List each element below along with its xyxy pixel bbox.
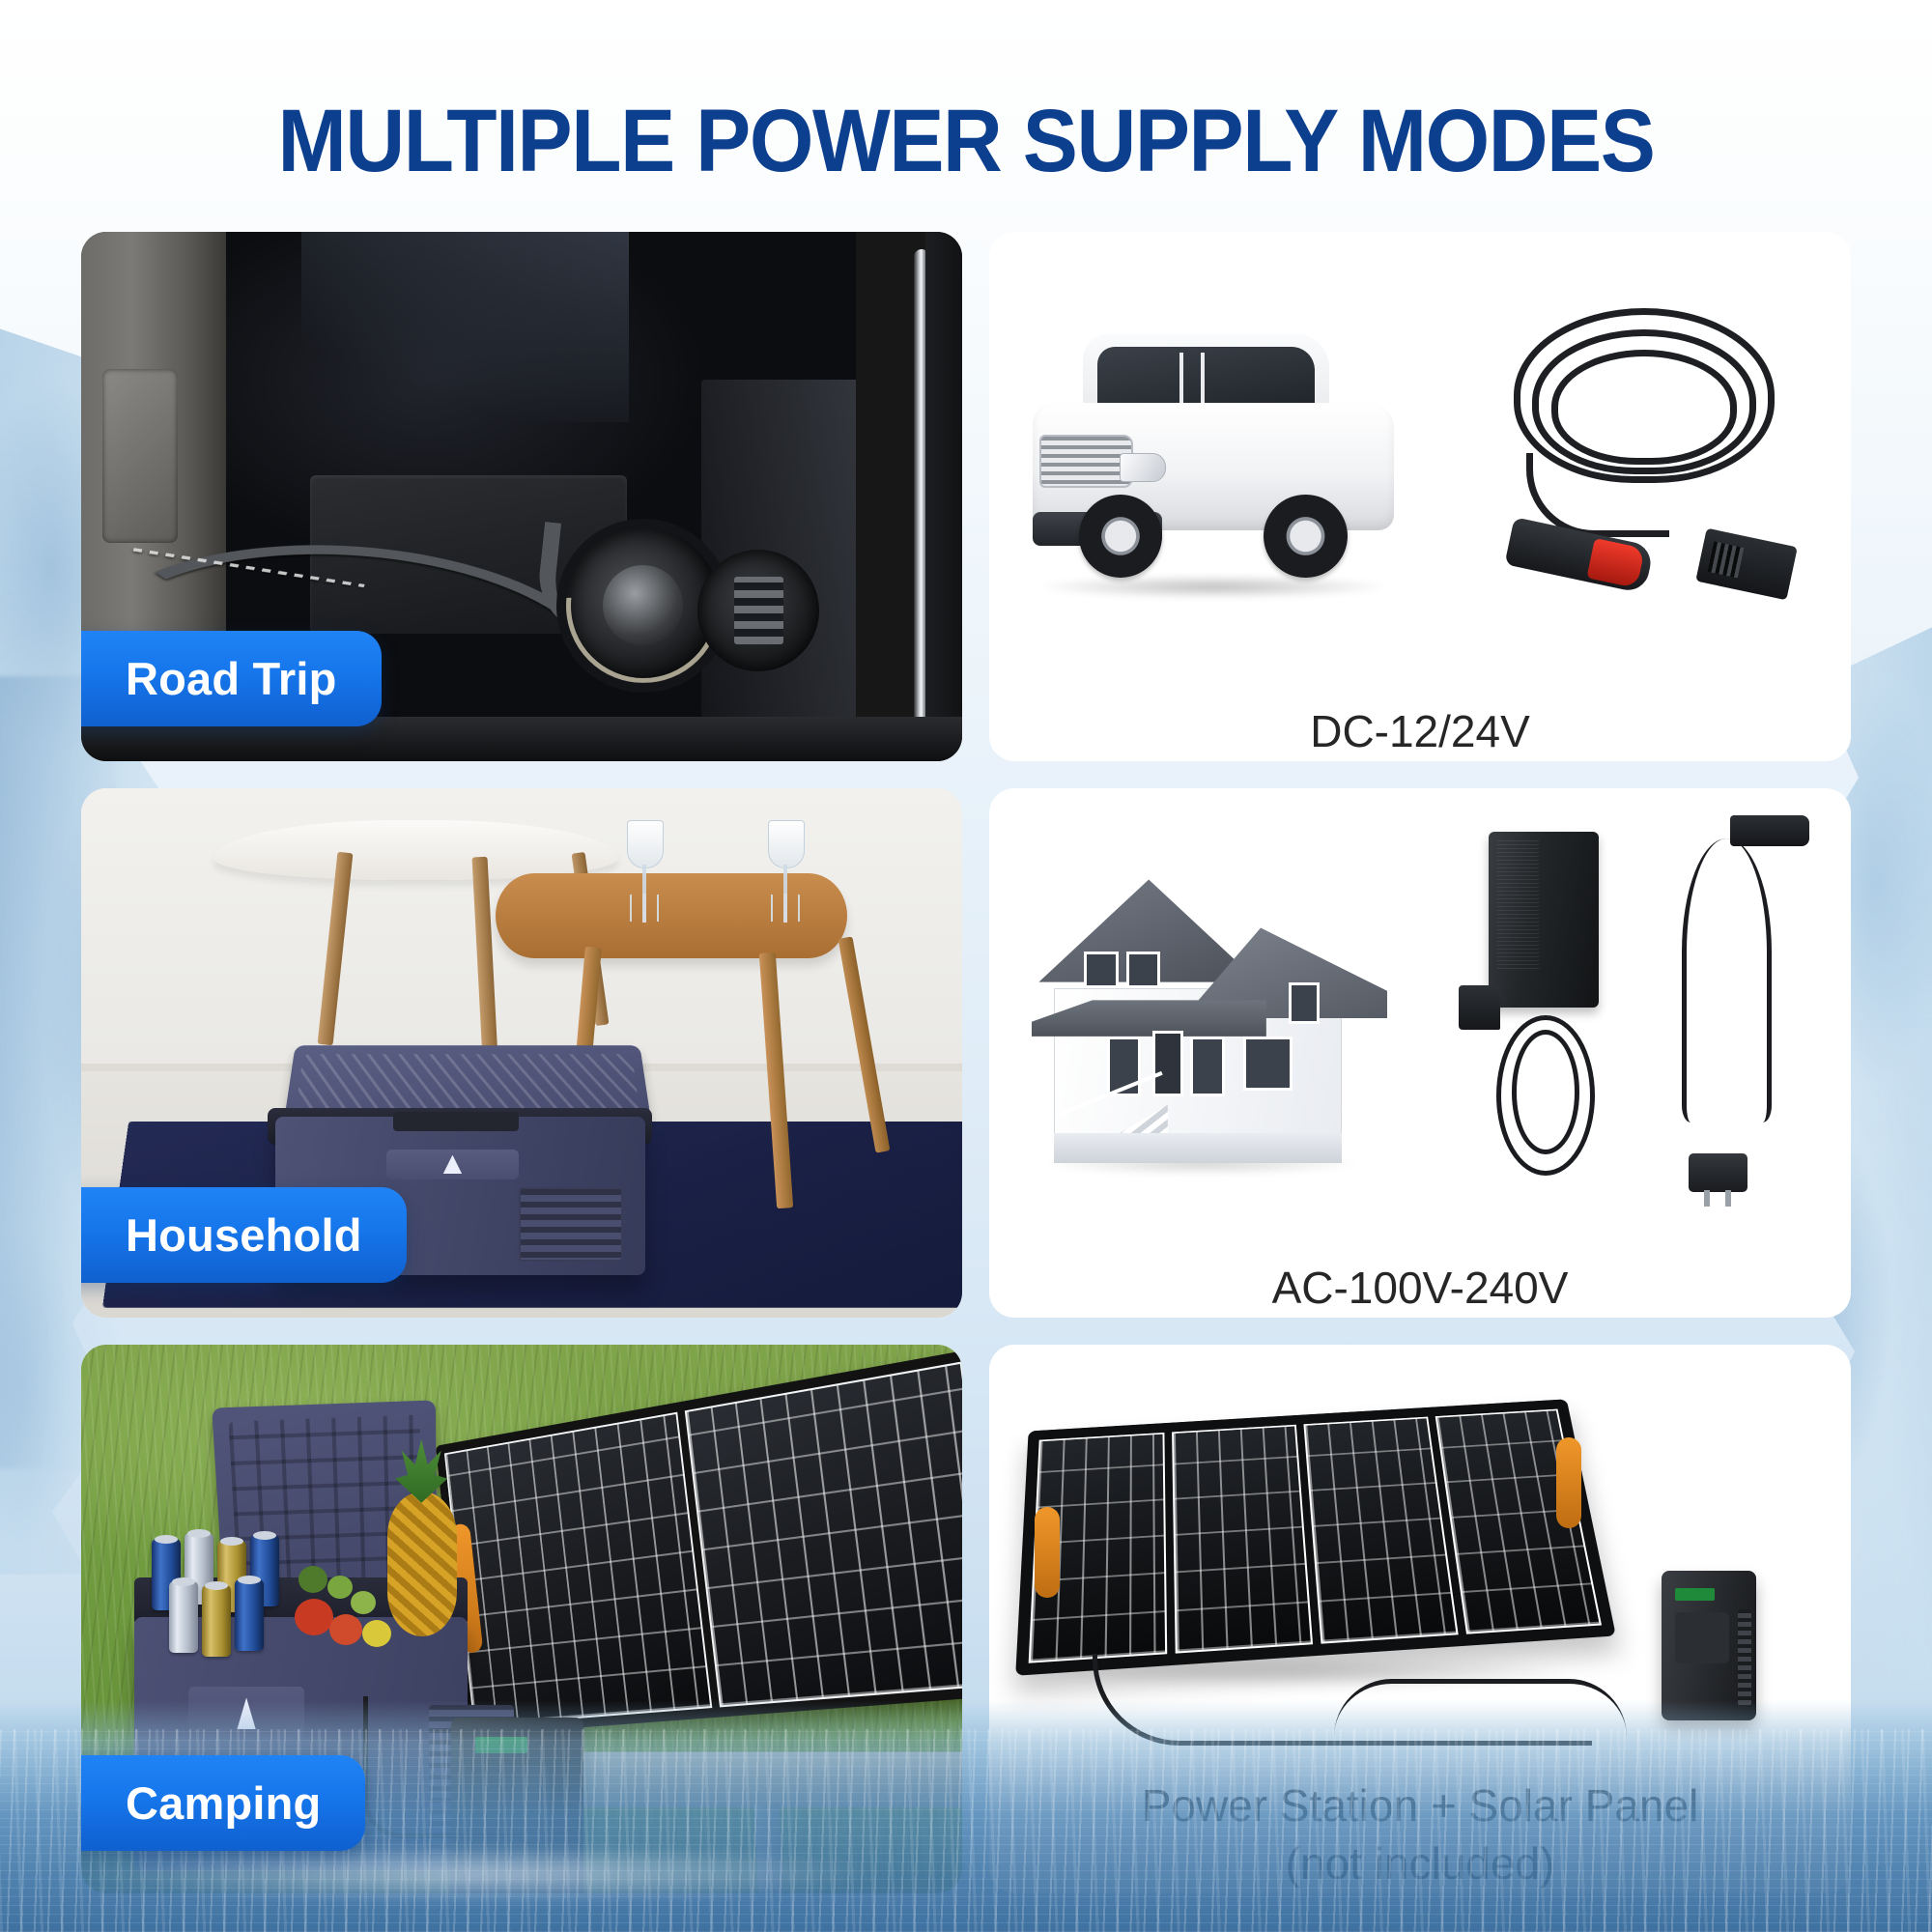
adapter-plug-head xyxy=(1459,985,1500,1029)
card-ac-power: AC-100V-240V xyxy=(989,788,1851,1318)
house-window-6 xyxy=(1243,1037,1293,1091)
white-suv-icon xyxy=(1033,324,1395,589)
sae-connector xyxy=(1695,528,1798,601)
house-window-3 xyxy=(1289,982,1319,1025)
ac-power-cord-icon xyxy=(1644,815,1816,1200)
living-room-fridge-photo: Household xyxy=(81,788,962,1318)
page-title: MULTIPLE POWER SUPPLY MODES xyxy=(68,0,1864,185)
power-station-display xyxy=(1675,1588,1715,1600)
dc-art-area xyxy=(989,232,1851,689)
secondary-socket xyxy=(697,550,819,671)
fridge-handle xyxy=(393,1112,519,1130)
caption-dc: DC-12/24V xyxy=(1310,702,1530,761)
fridge-logo xyxy=(386,1150,520,1179)
wine-glass-2 xyxy=(768,820,803,903)
house-icon xyxy=(1024,862,1403,1163)
cable-coil-inner xyxy=(1551,350,1738,465)
row-household: Household xyxy=(81,788,1851,1318)
badge-camping[interactable]: Camping xyxy=(81,1755,365,1851)
suv-shadow xyxy=(1039,575,1387,599)
house-foundation xyxy=(1054,1133,1342,1163)
solar-segment-2 xyxy=(684,1361,962,1707)
rows-container: Road Trip xyxy=(81,232,1851,1893)
green-fruit-1 xyxy=(298,1566,327,1593)
plug-red-barrel xyxy=(1586,538,1645,588)
yellow-fruit xyxy=(362,1620,391,1647)
fridge-vent xyxy=(519,1187,622,1262)
ac-power-adapter-icon xyxy=(1455,825,1644,1191)
water-glint xyxy=(77,1845,889,1903)
suv-headlight xyxy=(1120,453,1167,482)
solar-handle-right xyxy=(1556,1437,1581,1528)
power-station-vent xyxy=(1738,1609,1751,1706)
ac-art-area xyxy=(989,788,1851,1245)
drink-can-5 xyxy=(169,1581,198,1653)
portable-power-station-icon xyxy=(1662,1571,1756,1721)
iec-connector xyxy=(1730,815,1809,846)
badge-household[interactable]: Household xyxy=(81,1187,407,1283)
dc-artwork xyxy=(989,232,1851,689)
suv-front-wheel xyxy=(1079,495,1162,578)
cooler-contents xyxy=(152,1531,451,1674)
tomato-2 xyxy=(329,1614,362,1645)
house-window-1 xyxy=(1084,952,1118,987)
infographic-page: MULTIPLE POWER SUPPLY MODES Road Trip xyxy=(0,0,1932,1932)
drink-can-7 xyxy=(235,1579,264,1651)
pineapple xyxy=(387,1492,457,1636)
solar-panel-plate xyxy=(1015,1399,1615,1675)
caption-dc-line1: DC-12/24V xyxy=(1310,706,1530,756)
badge-road-trip[interactable]: Road Trip xyxy=(81,631,382,726)
house-window-2 xyxy=(1126,952,1160,987)
house-window-5 xyxy=(1190,1037,1224,1096)
caption-ac-line1: AC-100V-240V xyxy=(1272,1263,1569,1313)
wine-glass-1 xyxy=(627,820,662,903)
adapter-wire-loop-inner xyxy=(1512,1030,1580,1154)
dc-cigarette-lighter-cable-icon xyxy=(1489,296,1799,597)
suv-rear-wheel xyxy=(1264,495,1347,578)
power-station-port-panel xyxy=(1675,1612,1730,1663)
solar-handle-left xyxy=(1035,1507,1060,1598)
tomato-1 xyxy=(295,1599,333,1635)
car-12v-socket-photo: Road Trip xyxy=(81,232,962,761)
adapter-brick xyxy=(1489,832,1599,1008)
foldable-solar-panel-icon xyxy=(1024,1395,1593,1662)
ac-artwork xyxy=(989,788,1851,1245)
solar-fold-3 xyxy=(1303,1417,1457,1644)
solar-fold-2 xyxy=(1172,1425,1313,1654)
row-road-trip: Road Trip xyxy=(81,232,1851,761)
card-dc-power: DC-12/24V xyxy=(989,232,1851,761)
green-fruit-2 xyxy=(327,1576,353,1599)
green-fruit-3 xyxy=(351,1591,376,1614)
drink-can-6 xyxy=(202,1585,231,1657)
cord-loop xyxy=(1682,838,1772,1122)
nema-wall-plug xyxy=(1689,1153,1747,1192)
console-edge xyxy=(925,232,962,761)
caption-ac: AC-100V-240V xyxy=(1272,1259,1569,1318)
